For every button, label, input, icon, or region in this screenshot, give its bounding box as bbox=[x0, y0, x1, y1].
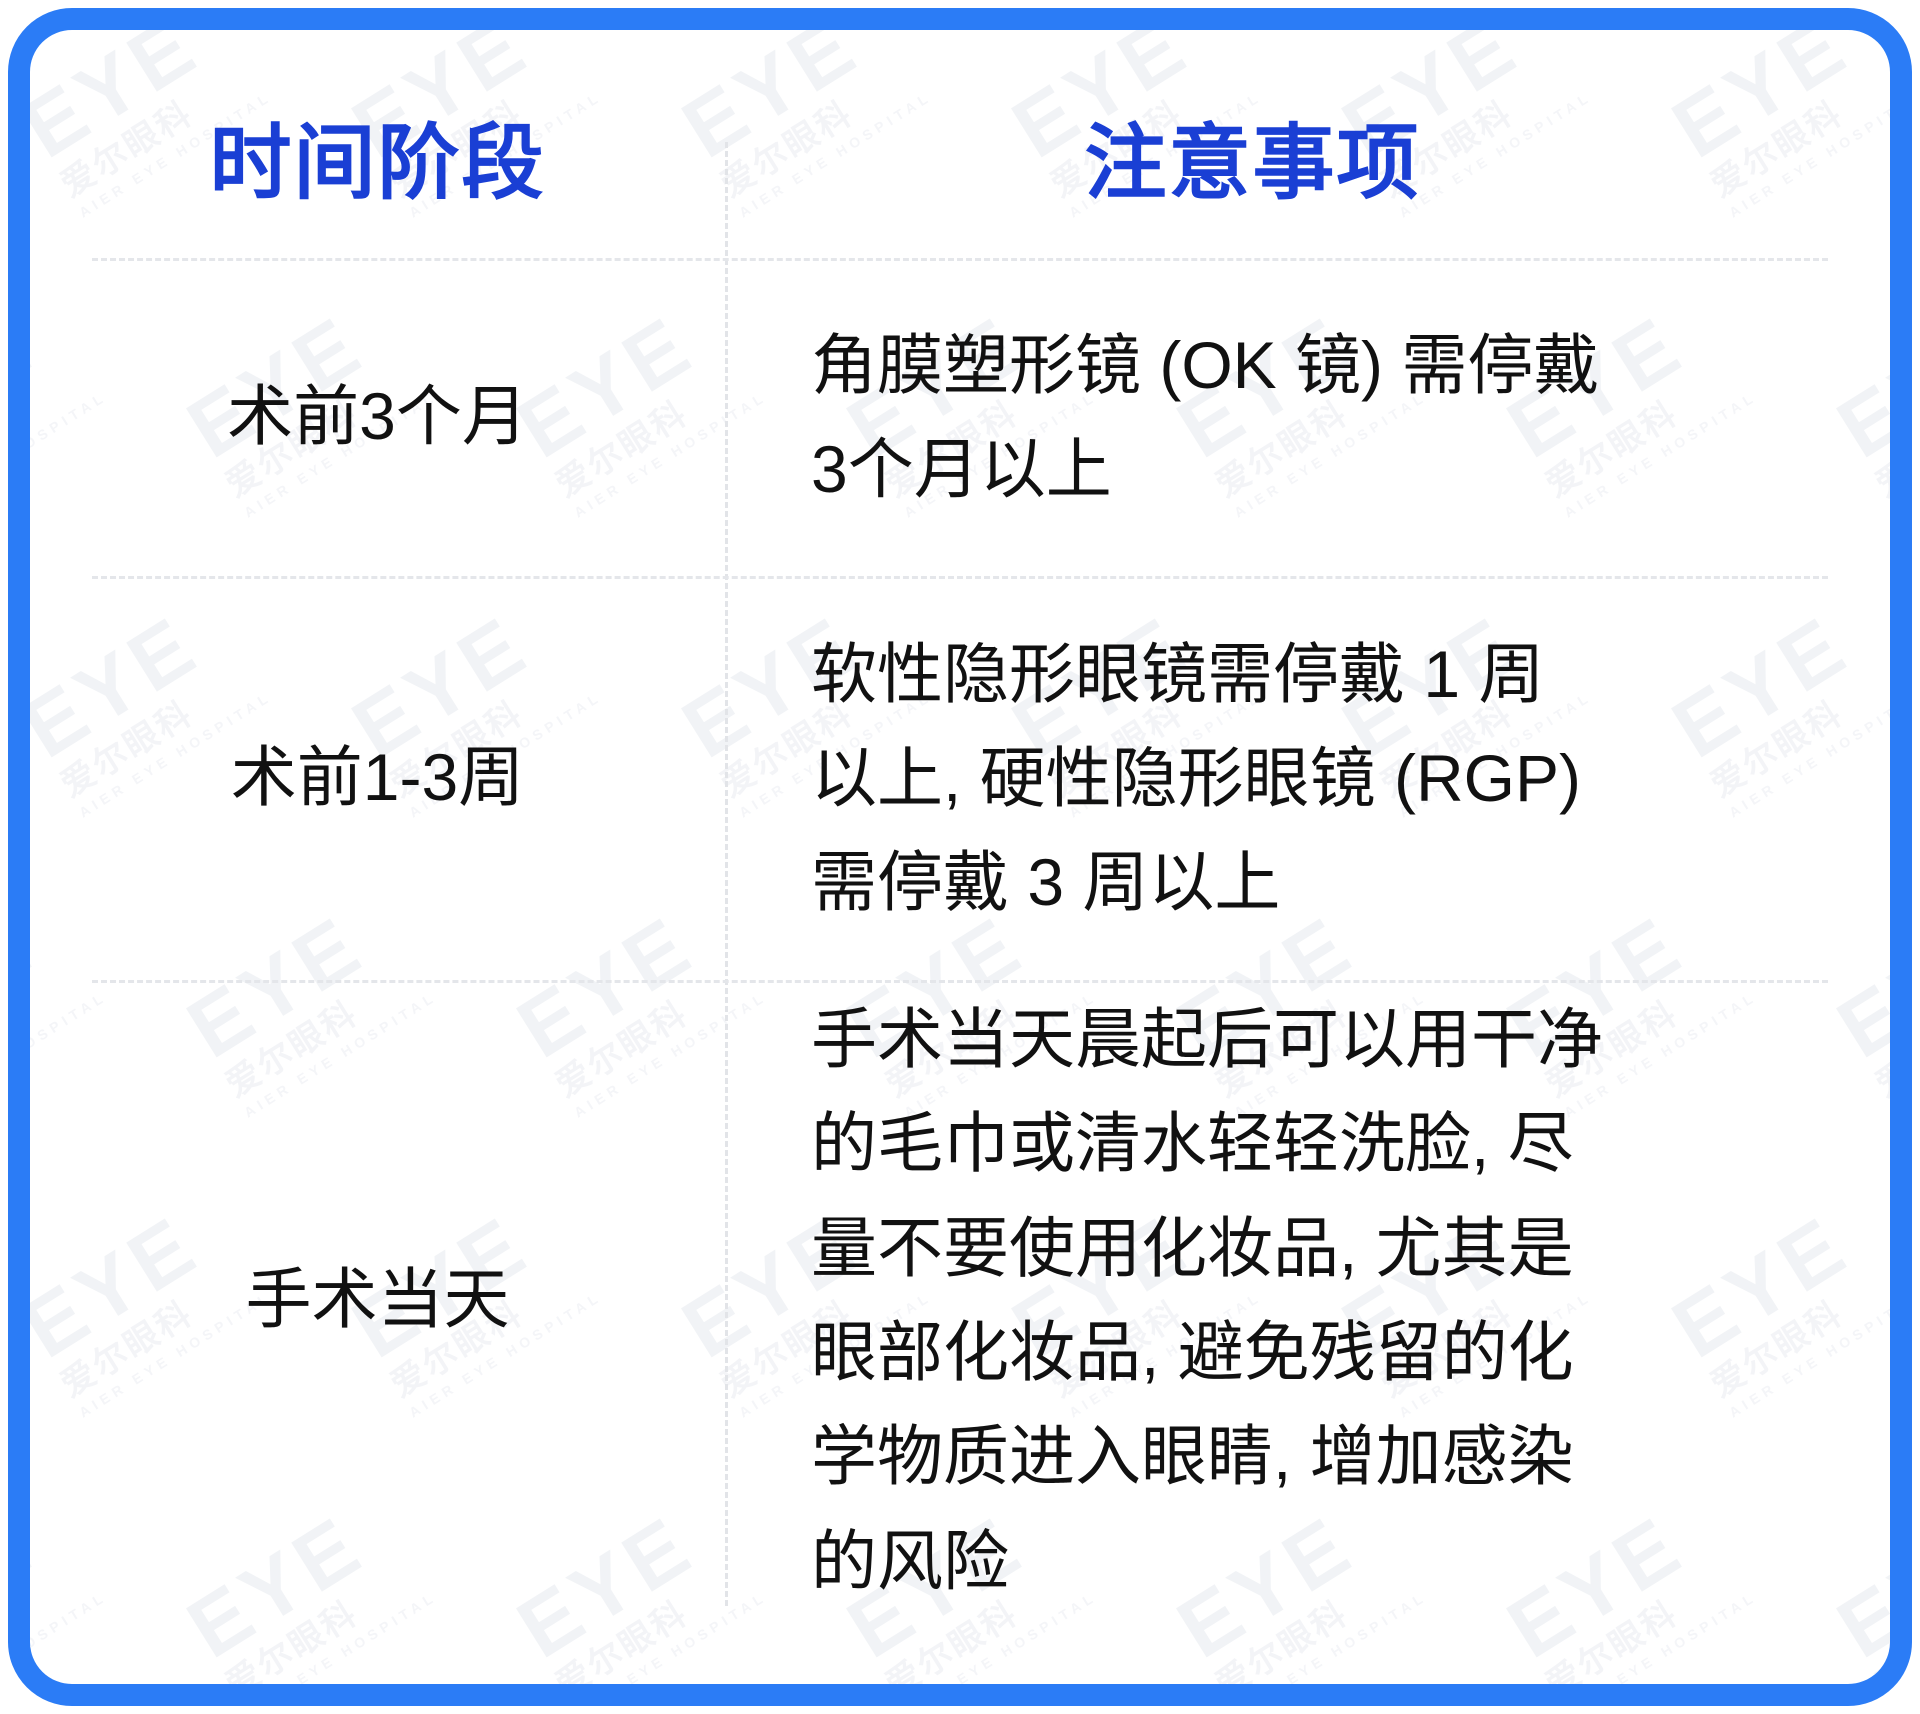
note-line: 3个月以上 bbox=[811, 417, 1599, 521]
note-line: 的毛巾或清水轻轻洗脸, 尽 bbox=[811, 1091, 1603, 1195]
note-line: 以上, 硬性隐形眼镜 (RGP) bbox=[811, 726, 1581, 830]
note-paragraph: 角膜塑形镜 (OK 镜) 需停戴 3个月以上 bbox=[811, 313, 1599, 522]
row-divider-3 bbox=[92, 980, 1828, 983]
row-cell-stage: 术前1-3周 bbox=[30, 576, 725, 980]
row-cell-notes: 角膜塑形镜 (OK 镜) 需停戴 3个月以上 bbox=[725, 258, 1890, 576]
row-cell-stage: 手术当天 bbox=[30, 980, 725, 1620]
notices-table: 时间阶段 注意事项 术前3个月 角膜塑形镜 (OK 镜) 需停戴 3个月以上 术… bbox=[30, 30, 1890, 1684]
row-cell-notes: 手术当天晨起后可以用干净 的毛巾或清水轻轻洗脸, 尽 量不要使用化妆品, 尤其是… bbox=[725, 980, 1890, 1620]
stage-label: 术前3个月 bbox=[227, 377, 528, 456]
table-row: 术前3个月 角膜塑形镜 (OK 镜) 需停戴 3个月以上 bbox=[30, 258, 1890, 576]
stage-label: 术前1-3周 bbox=[231, 738, 524, 817]
row-cell-notes: 软性隐形眼镜需停戴 1 周 以上, 硬性隐形眼镜 (RGP) 需停戴 3 周以上 bbox=[725, 576, 1890, 980]
column-divider bbox=[725, 142, 728, 1606]
note-line: 手术当天晨起后可以用干净 bbox=[811, 987, 1603, 1091]
note-line: 的风险 bbox=[811, 1509, 1603, 1613]
stage-label: 手术当天 bbox=[246, 1260, 510, 1339]
table-row: 手术当天 手术当天晨起后可以用干净 的毛巾或清水轻轻洗脸, 尽 量不要使用化妆品… bbox=[30, 980, 1890, 1620]
note-line: 软性隐形眼镜需停戴 1 周 bbox=[811, 622, 1581, 726]
table-header-row: 时间阶段 注意事项 bbox=[30, 70, 1890, 258]
note-paragraph: 手术当天晨起后可以用干净 的毛巾或清水轻轻洗脸, 尽 量不要使用化妆品, 尤其是… bbox=[811, 987, 1603, 1613]
header-cell-notes: 注意事项 bbox=[725, 70, 1890, 258]
row-cell-stage: 术前3个月 bbox=[30, 258, 725, 576]
note-line: 需停戴 3 周以上 bbox=[811, 830, 1581, 934]
card-frame: EYE爱尔眼科AIER EYE HOSPITALEYE爱尔眼科AIER EYE … bbox=[8, 8, 1912, 1706]
table-row: 术前1-3周 软性隐形眼镜需停戴 1 周 以上, 硬性隐形眼镜 (RGP) 需停… bbox=[30, 576, 1890, 980]
note-line: 量不要使用化妆品, 尤其是 bbox=[811, 1196, 1603, 1300]
note-line: 角膜塑形镜 (OK 镜) 需停戴 bbox=[811, 313, 1599, 417]
header-cell-stage: 时间阶段 bbox=[30, 70, 725, 258]
header-label-stage: 时间阶段 bbox=[209, 123, 545, 205]
row-divider-1 bbox=[92, 258, 1828, 261]
header-label-notes: 注意事项 bbox=[1084, 123, 1420, 205]
note-line: 学物质进入眼睛, 增加感染 bbox=[811, 1404, 1603, 1508]
row-divider-2 bbox=[92, 576, 1828, 579]
note-line: 眼部化妆品, 避免残留的化 bbox=[811, 1300, 1603, 1404]
note-paragraph: 软性隐形眼镜需停戴 1 周 以上, 硬性隐形眼镜 (RGP) 需停戴 3 周以上 bbox=[811, 622, 1581, 935]
